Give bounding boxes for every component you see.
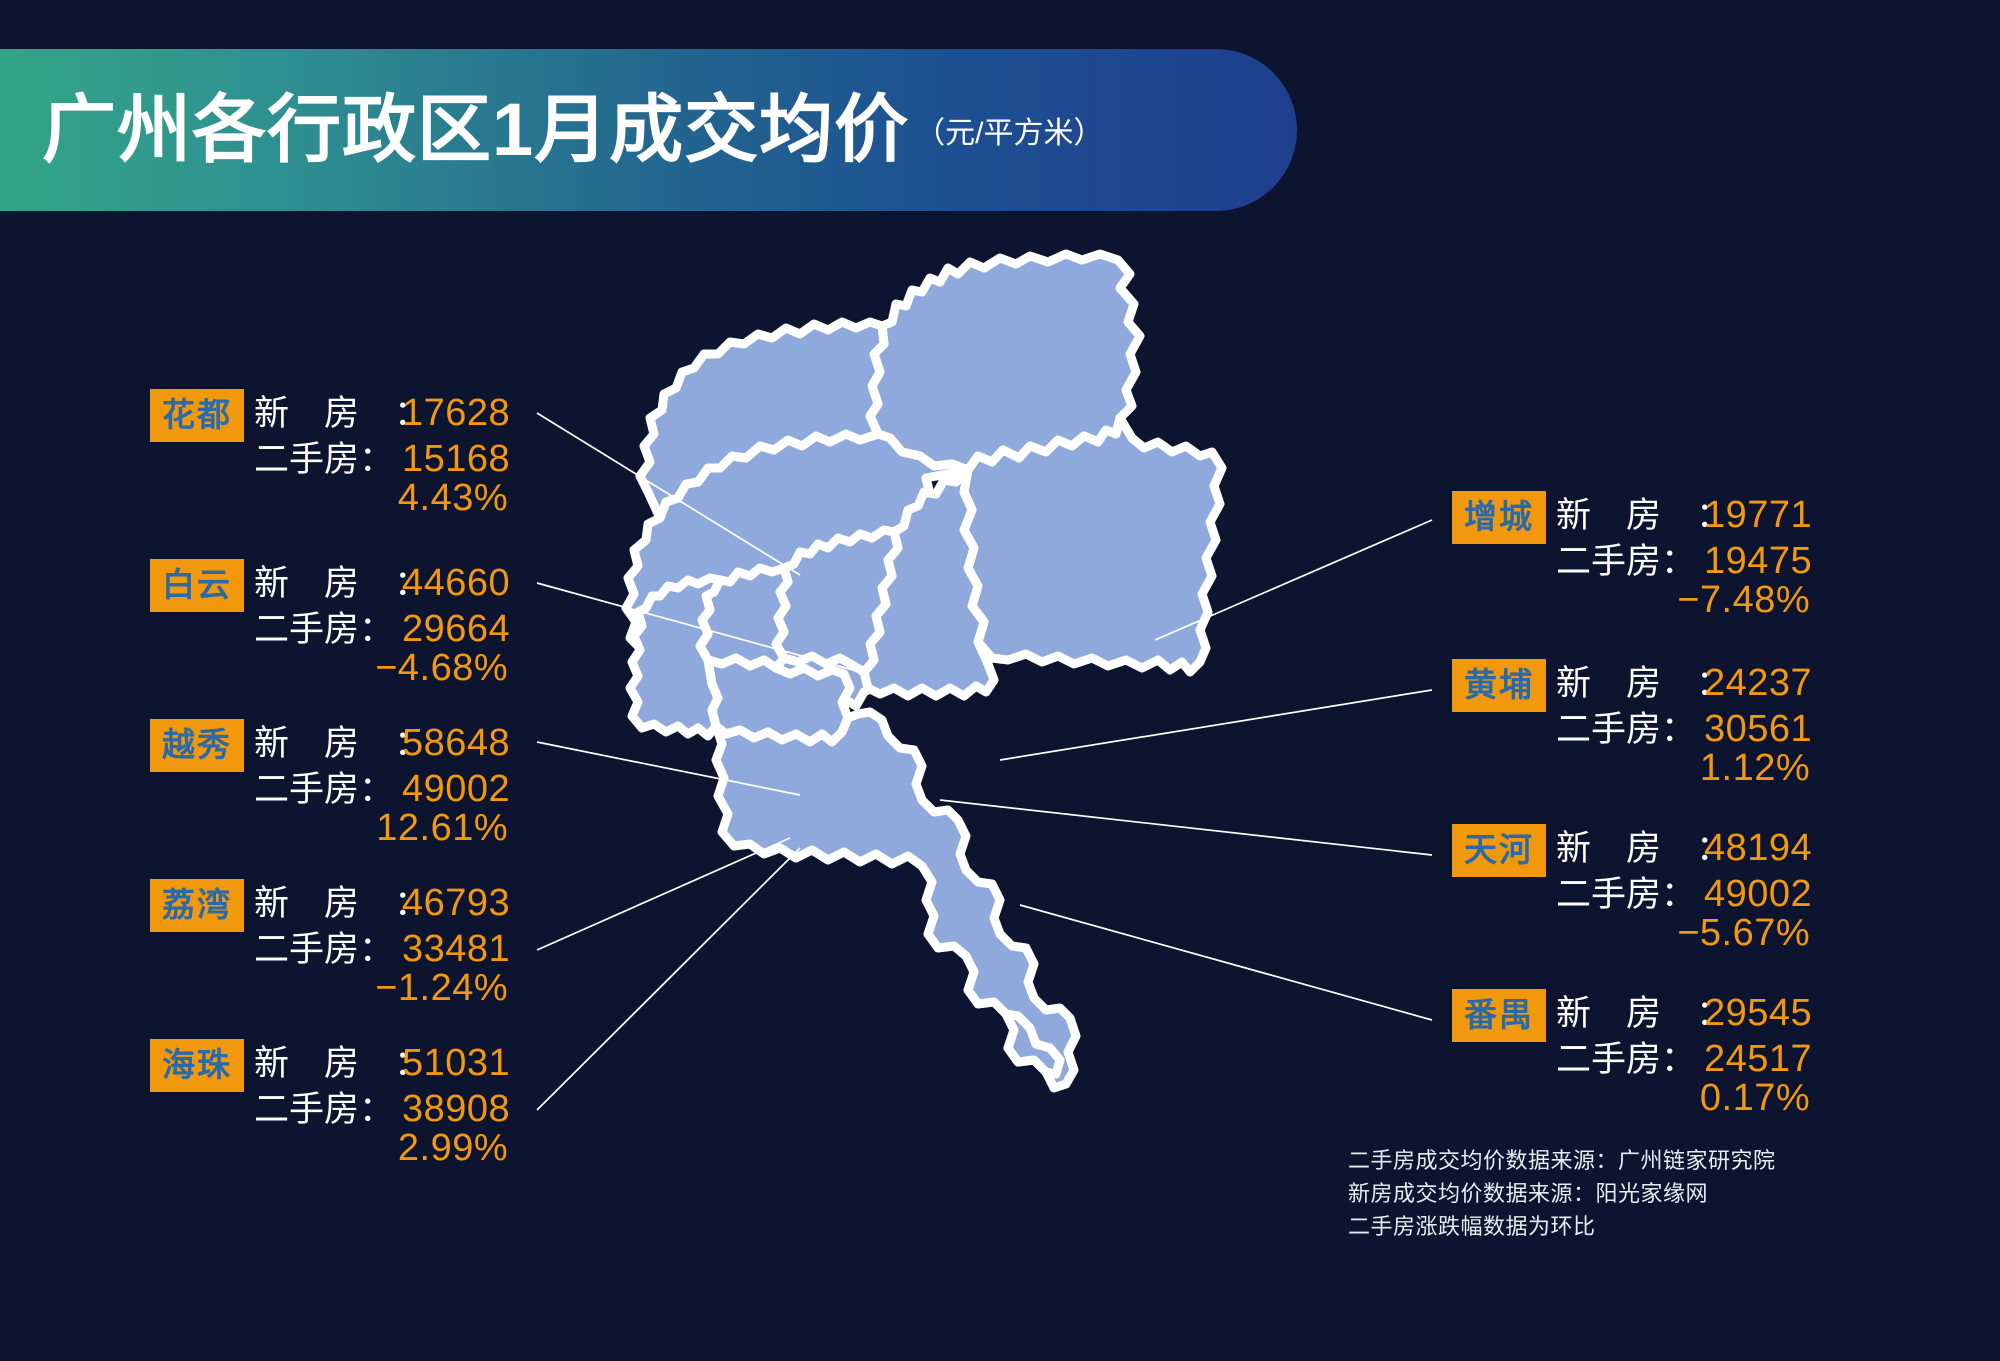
header-banner: 广州各行政区1月成交均价 （元/平方米） — [0, 49, 1297, 211]
new-house-row: 新 房 ： 17628 — [254, 385, 510, 431]
district-badge-haizhu: 海珠 — [150, 1039, 244, 1092]
second-hand-value: 19475 — [1704, 540, 1812, 583]
change-row: 2.99% — [254, 1127, 510, 1173]
second-hand-value: 24517 — [1704, 1038, 1812, 1081]
second-hand-label: 二手房： — [1556, 533, 1704, 584]
new-house-label: 新 房 ： — [254, 385, 402, 436]
second-hand-row: 二手房： 29664 — [254, 601, 510, 647]
guangzhou-district-map — [560, 230, 1460, 1160]
new-house-label: 新 房 ： — [1556, 487, 1704, 538]
new-house-row: 新 房 ： 58648 — [254, 715, 510, 761]
new-house-label: 新 房 ： — [254, 1035, 402, 1086]
second-hand-value: 33481 — [402, 928, 510, 971]
footnote-line-1: 二手房成交均价数据来源：广州链家研究院 — [1348, 1144, 1776, 1177]
change-value: −1.24% — [375, 967, 510, 1010]
page-title-unit: （元/平方米） — [915, 108, 1103, 152]
change-row: −5.67% — [1556, 912, 1812, 958]
new-house-row: 新 房 ： 51031 — [254, 1035, 510, 1081]
district-badge-liwan: 荔湾 — [150, 879, 244, 932]
second-hand-value: 29664 — [402, 608, 510, 651]
district-badge-panyu: 番禺 — [1452, 989, 1546, 1042]
footnote-line-2: 新房成交均价数据来源：阳光家缘网 — [1348, 1177, 1776, 1210]
second-hand-value: 15168 — [402, 438, 510, 481]
new-house-value: 58648 — [402, 722, 510, 765]
second-hand-row: 二手房： 49002 — [254, 761, 510, 807]
callout-panyu[interactable]: 番禺 新 房 ： 29545 二手房： 24517 0.17% — [1452, 985, 1812, 1123]
new-house-label: 新 房 ： — [254, 555, 402, 606]
second-hand-label: 二手房： — [254, 761, 402, 812]
new-house-value: 48194 — [1704, 827, 1812, 870]
second-hand-label: 二手房： — [254, 601, 402, 652]
new-house-value: 46793 — [402, 882, 510, 925]
district-badge-zengcheng: 增城 — [1452, 491, 1546, 544]
second-hand-row: 二手房： 19475 — [1556, 533, 1812, 579]
change-row: 1.12% — [1556, 747, 1812, 793]
change-row: 12.61% — [254, 807, 510, 853]
map-region-zengcheng — [964, 418, 1222, 672]
second-hand-row: 二手房： 30561 — [1556, 701, 1812, 747]
new-house-row: 新 房 ： 19771 — [1556, 487, 1812, 533]
second-hand-row: 二手房： 24517 — [1556, 1031, 1812, 1077]
new-house-row: 新 房 ： 44660 — [254, 555, 510, 601]
new-house-label: 新 房 ： — [1556, 820, 1704, 871]
change-value: 1.12% — [1700, 747, 1812, 790]
new-house-row: 新 房 ： 48194 — [1556, 820, 1812, 866]
change-value: 2.99% — [398, 1127, 510, 1170]
new-house-row: 新 房 ： 24237 — [1556, 655, 1812, 701]
new-house-value: 51031 — [402, 1042, 510, 1085]
callout-baiyun[interactable]: 白云 新 房 ： 44660 二手房： 29664 −4.68% — [150, 555, 510, 693]
district-badge-baiyun: 白云 — [150, 559, 244, 612]
callout-haizhu[interactable]: 海珠 新 房 ： 51031 二手房： 38908 2.99% — [150, 1035, 510, 1173]
district-badge-huangpu: 黄埔 — [1452, 659, 1546, 712]
new-house-label: 新 房 ： — [1556, 655, 1704, 706]
change-value: −4.68% — [375, 647, 510, 690]
change-row: −7.48% — [1556, 579, 1812, 625]
second-hand-label: 二手房： — [1556, 1031, 1704, 1082]
new-house-value: 17628 — [402, 392, 510, 435]
callout-zengcheng[interactable]: 增城 新 房 ： 19771 二手房： 19475 −7.48% — [1452, 487, 1812, 625]
new-house-value: 44660 — [402, 562, 510, 605]
change-row: 0.17% — [1556, 1077, 1812, 1123]
district-badge-tianhe: 天河 — [1452, 824, 1546, 877]
new-house-value: 29545 — [1704, 992, 1812, 1035]
callout-tianhe[interactable]: 天河 新 房 ： 48194 二手房： 49002 −5.67% — [1452, 820, 1812, 958]
second-hand-label: 二手房： — [254, 1081, 402, 1132]
change-value: 12.61% — [376, 807, 510, 850]
second-hand-value: 49002 — [1704, 873, 1812, 916]
callout-yuexiu[interactable]: 越秀 新 房 ： 58648 二手房： 49002 12.61% — [150, 715, 510, 853]
second-hand-label: 二手房： — [1556, 701, 1704, 752]
change-value: −7.48% — [1677, 579, 1812, 622]
change-value: 0.17% — [1700, 1077, 1812, 1120]
second-hand-value: 38908 — [402, 1088, 510, 1131]
new-house-label: 新 房 ： — [1556, 985, 1704, 1036]
district-badge-yuexiu: 越秀 — [150, 719, 244, 772]
second-hand-row: 二手房： 38908 — [254, 1081, 510, 1127]
new-house-label: 新 房 ： — [254, 715, 402, 766]
change-row: −4.68% — [254, 647, 510, 693]
change-row: −1.24% — [254, 967, 510, 1013]
page-title: 广州各行政区1月成交均价 — [42, 93, 909, 167]
callout-huangpu[interactable]: 黄埔 新 房 ： 24237 二手房： 30561 1.12% — [1452, 655, 1812, 793]
data-source-footnote: 二手房成交均价数据来源：广州链家研究院 新房成交均价数据来源：阳光家缘网 二手房… — [1348, 1144, 1776, 1243]
new-house-value: 24237 — [1704, 662, 1812, 705]
second-hand-row: 二手房： 33481 — [254, 921, 510, 967]
change-value: 4.43% — [398, 477, 510, 520]
second-hand-value: 49002 — [402, 768, 510, 811]
callout-huadu[interactable]: 花都 新 房 ： 17628 二手房： 15168 4.43% — [150, 385, 510, 523]
change-row: 4.43% — [254, 477, 510, 523]
new-house-row: 新 房 ： 46793 — [254, 875, 510, 921]
second-hand-label: 二手房： — [254, 431, 402, 482]
second-hand-value: 30561 — [1704, 708, 1812, 751]
footnote-line-3: 二手房涨跌幅数据为环比 — [1348, 1210, 1776, 1243]
new-house-label: 新 房 ： — [254, 875, 402, 926]
second-hand-label: 二手房： — [1556, 866, 1704, 917]
change-value: −5.67% — [1677, 912, 1812, 955]
new-house-row: 新 房 ： 29545 — [1556, 985, 1812, 1031]
second-hand-label: 二手房： — [254, 921, 402, 972]
callout-liwan[interactable]: 荔湾 新 房 ： 46793 二手房： 33481 −1.24% — [150, 875, 510, 1013]
second-hand-row: 二手房： 49002 — [1556, 866, 1812, 912]
district-badge-huadu: 花都 — [150, 389, 244, 442]
second-hand-row: 二手房： 15168 — [254, 431, 510, 477]
map-svg — [560, 230, 1460, 1160]
new-house-value: 19771 — [1704, 494, 1812, 537]
